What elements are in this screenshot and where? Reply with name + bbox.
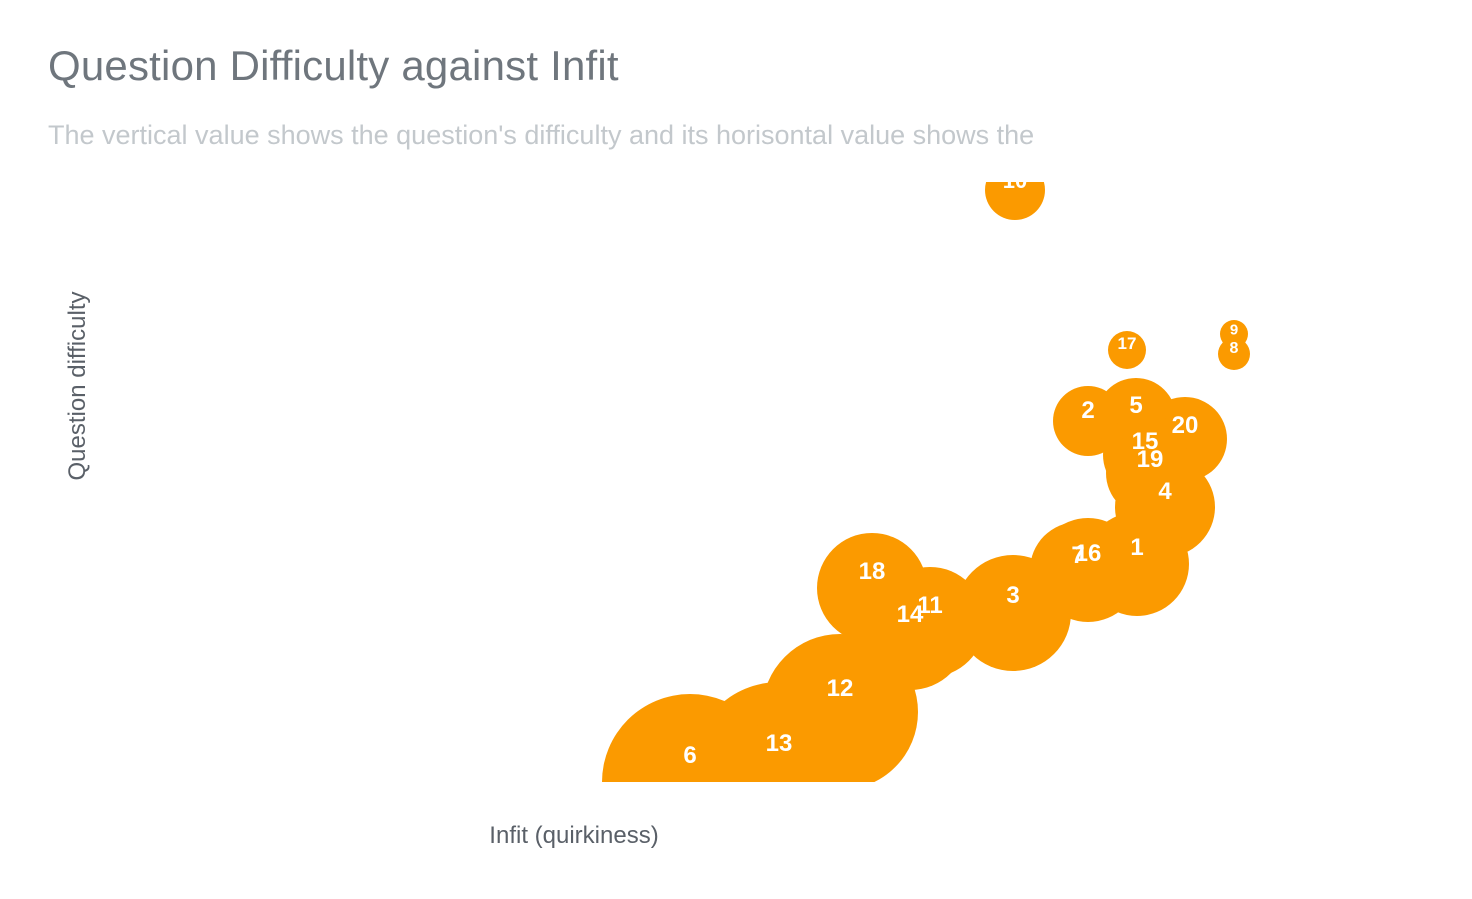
slide-canvas: Question Difficulty against Infit The ve… — [0, 0, 1472, 899]
x-axis-title: Infit (quirkiness) — [489, 822, 658, 850]
bubble-point[interactable] — [1108, 331, 1146, 369]
bubble-point[interactable] — [817, 533, 927, 643]
page-title: Question Difficulty against Infit — [48, 42, 619, 90]
bubble-point[interactable] — [1218, 338, 1250, 370]
x-axis-title-wrap: Infit (quirkiness) — [0, 822, 1472, 850]
bubble-point[interactable] — [985, 182, 1045, 220]
y-axis-title: Question difficulty — [60, 266, 96, 506]
page-subtitle: The vertical value shows the question's … — [48, 120, 1034, 151]
bubble-chart-plot-area[interactable]: 1017982520151941716311141812136 — [110, 182, 1440, 782]
